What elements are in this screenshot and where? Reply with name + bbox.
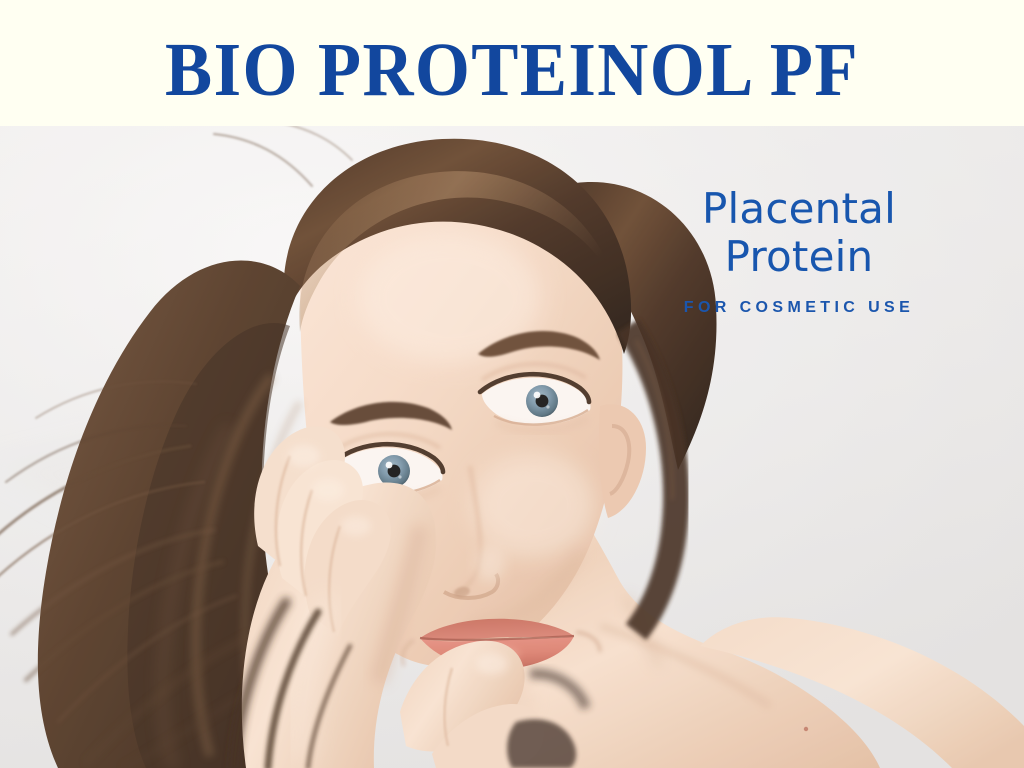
headline-line-2: Protein	[636, 233, 962, 281]
subheadline: FOR COSMETIC USE	[636, 299, 962, 317]
slide-canvas: BIO PROTEINOL PF Placental Protein FOR C…	[0, 0, 1024, 768]
title-band: BIO PROTEINOL PF	[0, 0, 1024, 126]
headline-line-1: Placental	[636, 185, 962, 233]
page-title: BIO PROTEINOL PF	[36, 30, 988, 110]
